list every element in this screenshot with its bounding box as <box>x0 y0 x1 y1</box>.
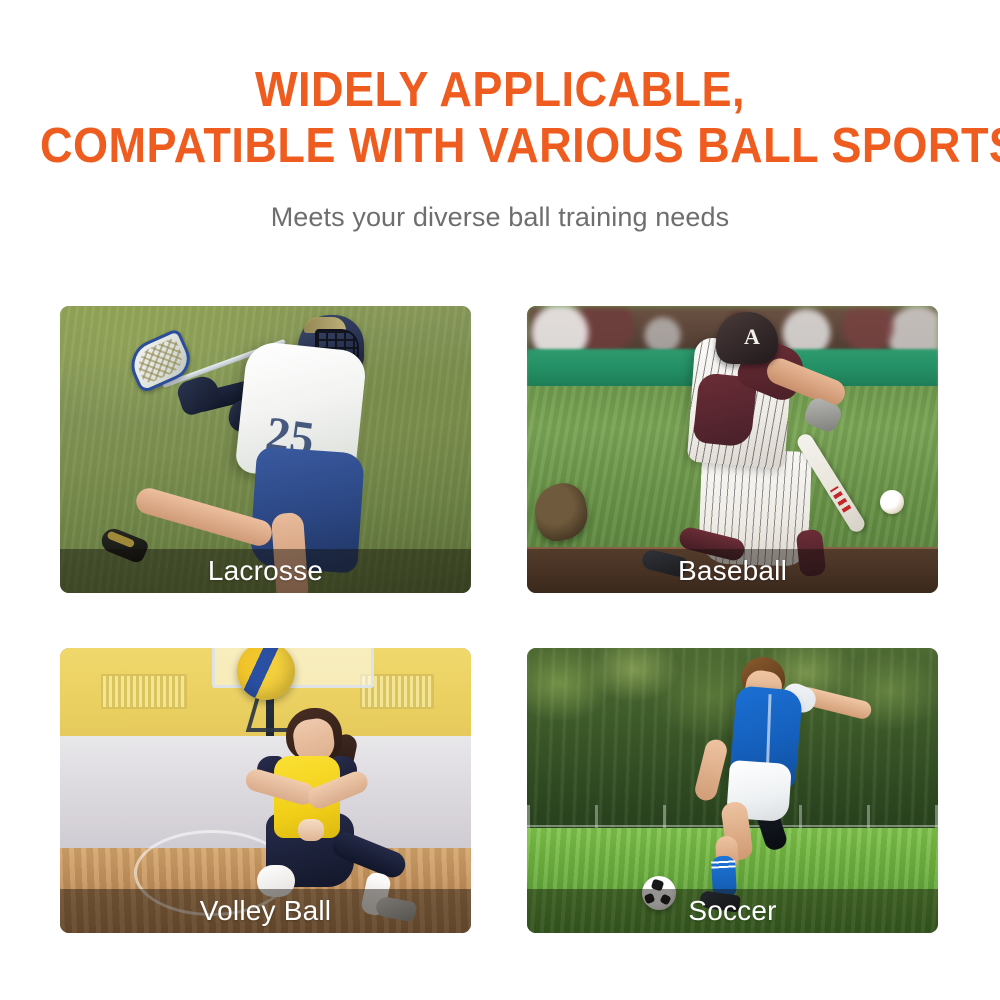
player-clasped-hands <box>298 819 324 841</box>
header: WIDELY APPLICABLE, COMPATIBLE WITH VARIO… <box>0 62 1000 233</box>
sport-tile-volleyball[interactable]: Volley Ball <box>60 648 471 933</box>
tile-caption: Baseball <box>678 555 787 587</box>
sports-tile-grid: 25 Lacrosse <box>60 306 938 933</box>
tile-caption: Volley Ball <box>200 895 331 927</box>
gym-radiator-left <box>101 674 187 709</box>
headline-line-1: WIDELY APPLICABLE, <box>40 62 960 118</box>
batting-helmet-icon <box>716 312 778 364</box>
headline-line-2: COMPATIBLE WITH VARIOUS BALL SPORTS <box>40 118 960 174</box>
tile-caption: Lacrosse <box>208 555 323 587</box>
caption-bar-volleyball: Volley Ball <box>60 889 471 933</box>
caption-bar-baseball: Baseball <box>527 549 938 593</box>
sport-tile-soccer[interactable]: Soccer <box>527 648 938 933</box>
page-title: WIDELY APPLICABLE, COMPATIBLE WITH VARIO… <box>40 62 960 174</box>
page-subtitle: Meets your diverse ball training needs <box>0 174 1000 233</box>
caption-bar-soccer: Soccer <box>527 889 938 933</box>
sport-tile-baseball[interactable]: Baseball <box>527 306 938 593</box>
sport-tile-lacrosse[interactable]: 25 Lacrosse <box>60 306 471 593</box>
marketing-page: WIDELY APPLICABLE, COMPATIBLE WITH VARIO… <box>0 0 1000 1000</box>
tile-caption: Soccer <box>688 895 776 927</box>
caption-bar-lacrosse: Lacrosse <box>60 549 471 593</box>
baseball-icon <box>880 490 904 514</box>
